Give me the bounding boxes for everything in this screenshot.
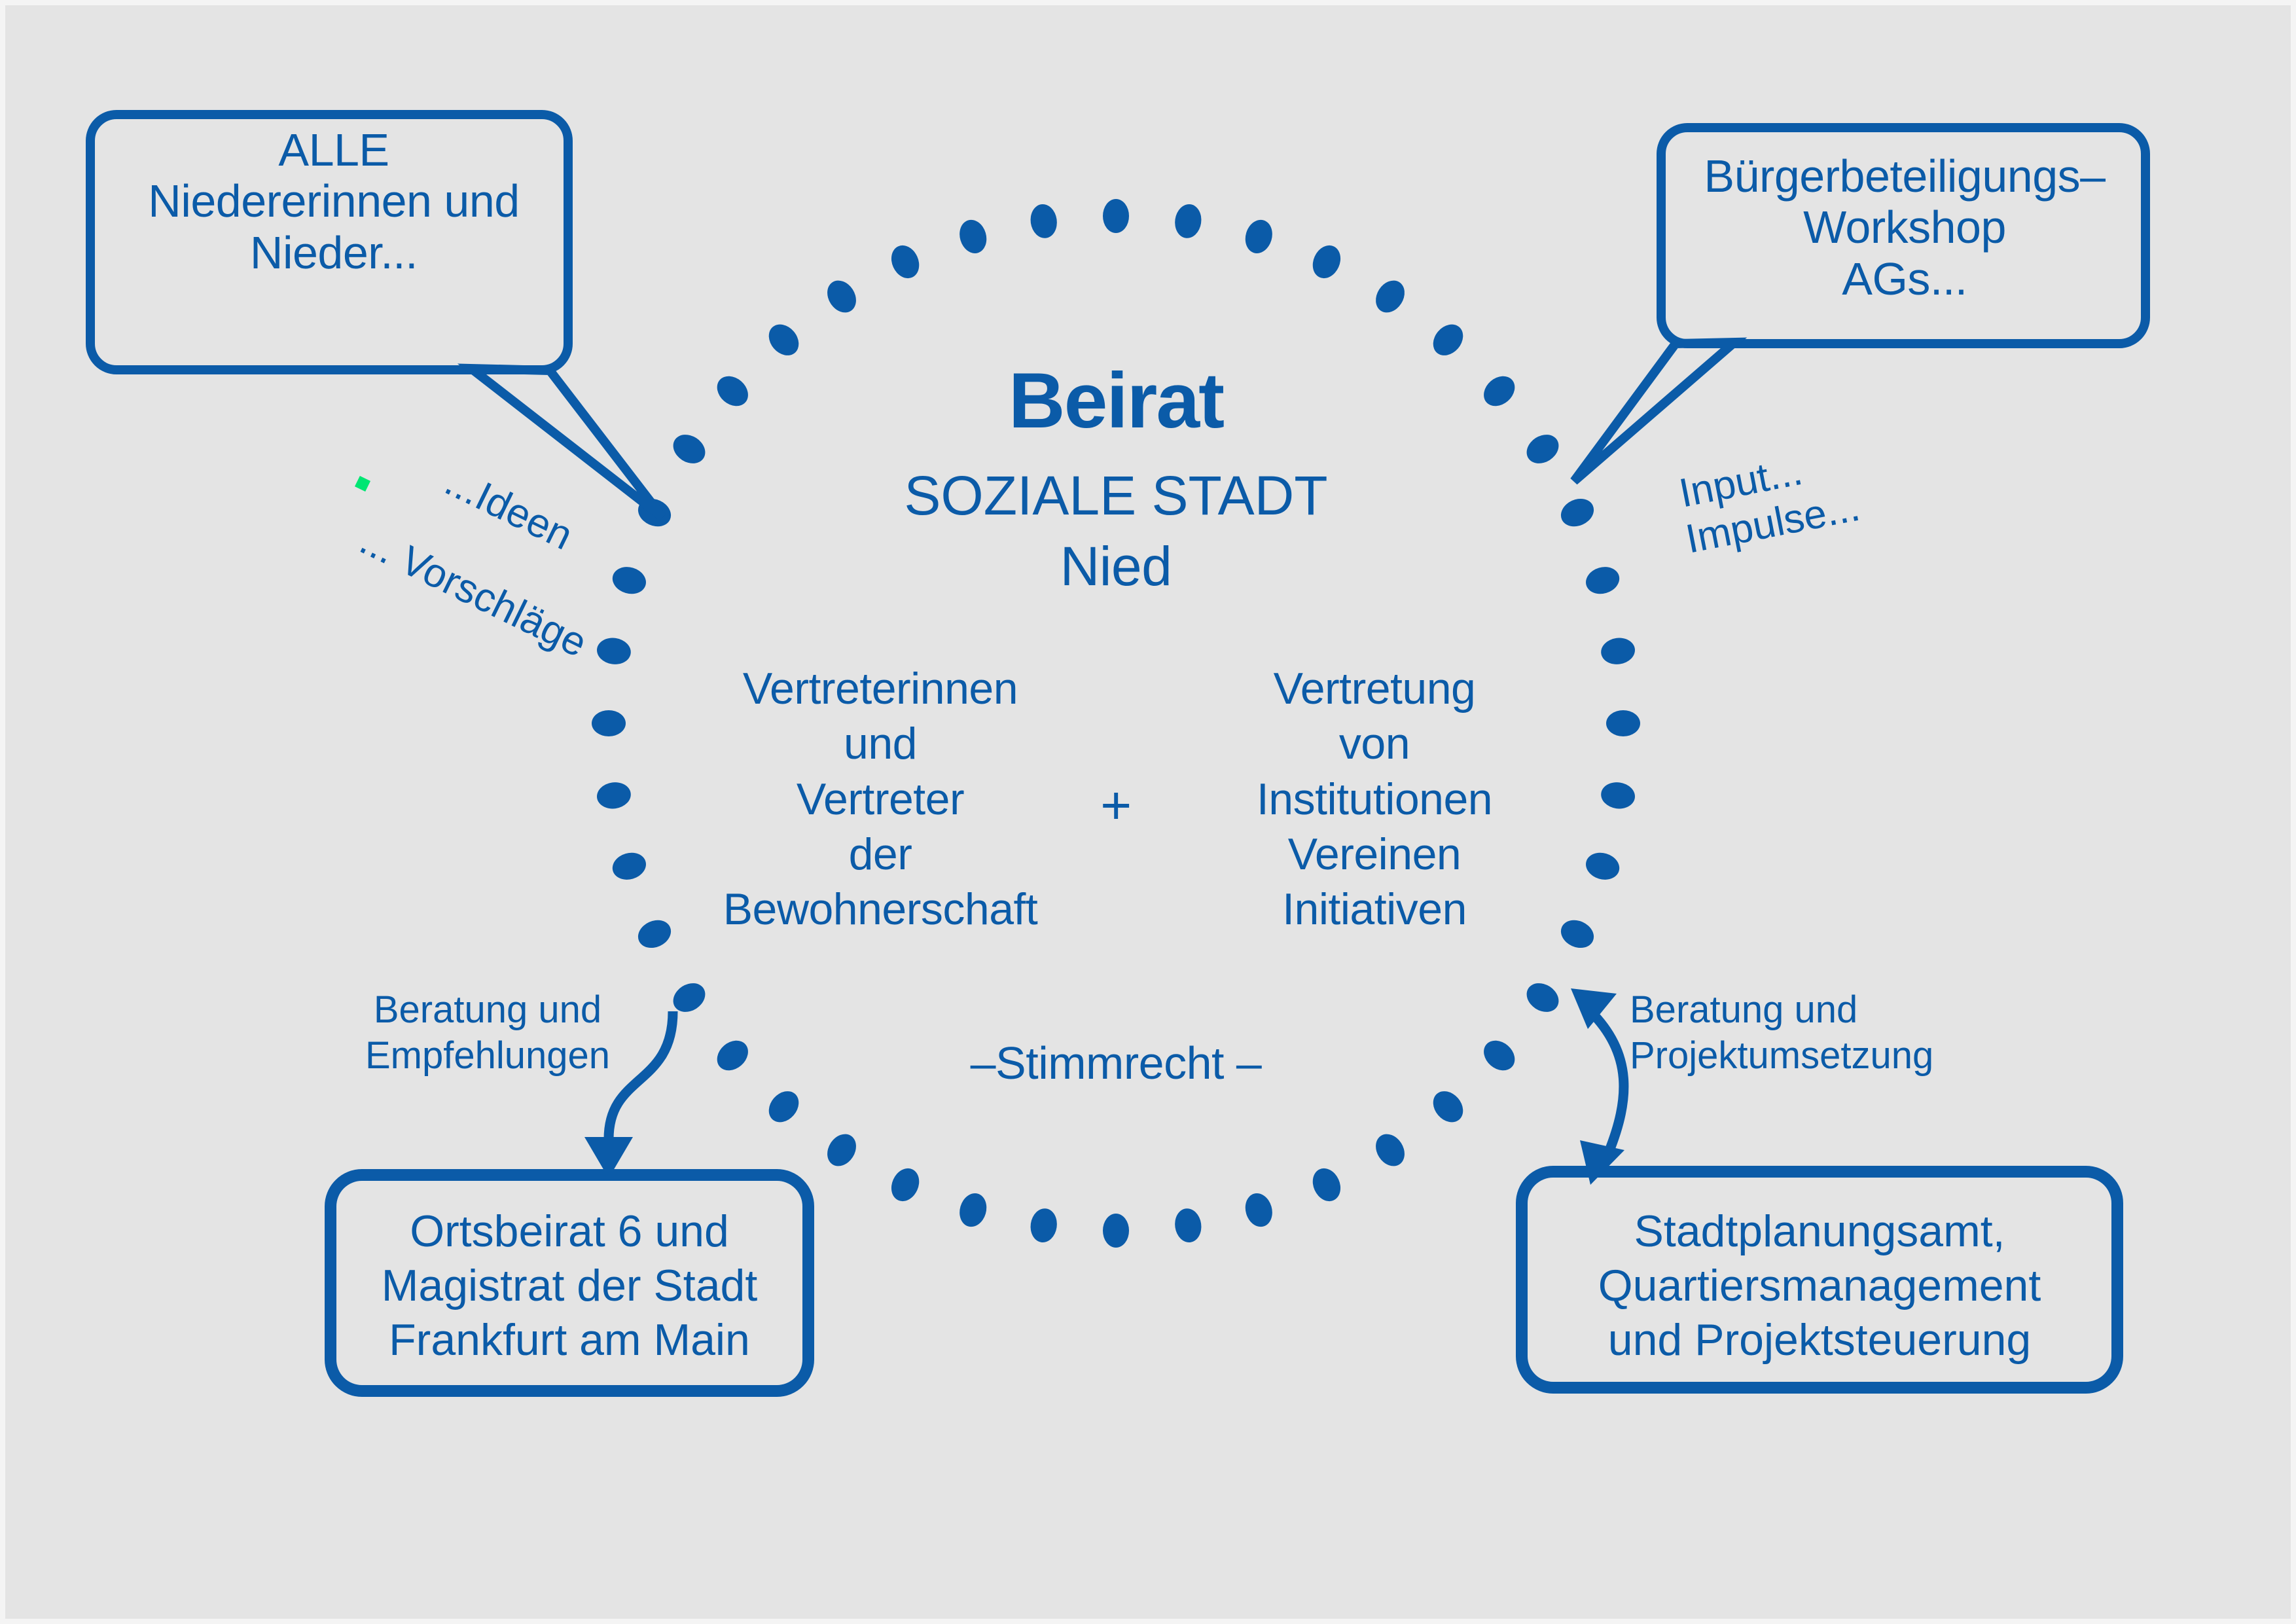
ring-dot <box>1521 429 1564 469</box>
arrow-beirat-stadtplanung <box>1571 988 1624 1185</box>
center-left-column: Vertreterinnen und Vertreter der Bewohne… <box>677 661 1083 937</box>
bubble-top-right-tail <box>1574 342 1734 481</box>
ring-dot <box>1242 1190 1276 1230</box>
ring-dot <box>634 915 675 953</box>
ring-dot <box>1370 1128 1410 1171</box>
ring-dot <box>1173 202 1204 240</box>
ring-dot <box>1308 1164 1346 1206</box>
ring-dot <box>1583 563 1623 598</box>
box-stadtplanungsamt-label: Stadtplanungsamt, Quartiersmanagement un… <box>1525 1204 2114 1367</box>
ring-dot <box>1173 1207 1204 1244</box>
ring-dot <box>1028 202 1059 240</box>
ring-dot <box>1606 710 1640 736</box>
ring-dot <box>1478 370 1520 412</box>
ring-dot <box>1427 1085 1469 1128</box>
center-right-column: Vertretung von Institutionen Vereinen In… <box>1172 661 1577 937</box>
ring-dot <box>595 780 632 811</box>
ring-dot <box>1103 1214 1129 1248</box>
box-ortsbeirat-label: Ortsbeirat 6 und Magistrat der Stadt Fra… <box>334 1204 805 1367</box>
ring-dot <box>886 1164 924 1206</box>
ring-dot <box>1600 636 1637 666</box>
center-subtitle-line2: Nied <box>789 535 1443 597</box>
ring-dot <box>668 429 710 469</box>
ring-dot <box>711 370 754 412</box>
ring-dot <box>956 1190 990 1230</box>
center-title: Beirat <box>789 357 1443 444</box>
diagram-canvas: ALLE Niedererinnen und Nieder... Bürgerb… <box>0 0 2296 1624</box>
ring-dot <box>886 241 924 283</box>
ring-dot <box>1600 780 1637 811</box>
ring-dot <box>711 1034 754 1076</box>
center-subtitle-line1: SOZIALE STADT <box>789 465 1443 526</box>
ring-dot <box>821 275 862 317</box>
ring-dot <box>592 710 626 736</box>
bubble-top-left-label: ALLE Niedererinnen und Nieder... <box>92 124 576 278</box>
ring-dot <box>1427 319 1469 361</box>
ring-dot <box>1478 1034 1520 1076</box>
ring-dot <box>1556 494 1598 532</box>
ring-dot <box>1583 849 1623 884</box>
ring-dot <box>821 1128 862 1171</box>
stimmrecht-note: –Stimmrecht – <box>913 1038 1319 1089</box>
ring-dot <box>609 563 649 598</box>
ring-dot <box>762 319 804 361</box>
annotation-beratung-projektumsetzung: Beratung und Projektumsetzung <box>1630 987 1957 1078</box>
ring-dot <box>1308 241 1346 283</box>
plus-symbol: + <box>1064 776 1168 836</box>
ring-dot <box>609 849 649 884</box>
ring-dot <box>1370 275 1410 317</box>
ring-dot <box>956 217 990 257</box>
annotation-beratung-empfehlungen: Beratung und Empfehlungen <box>347 987 628 1078</box>
ring-dot <box>1521 977 1564 1018</box>
ring-dot <box>1242 217 1276 257</box>
ring-dot <box>762 1085 804 1128</box>
ring-dot <box>595 636 632 666</box>
bubble-top-right-label: Bürgerbeteiligungs– Workshop AGs... <box>1662 151 2147 304</box>
ring-dot <box>1103 199 1129 233</box>
ring-dot <box>1028 1207 1059 1244</box>
